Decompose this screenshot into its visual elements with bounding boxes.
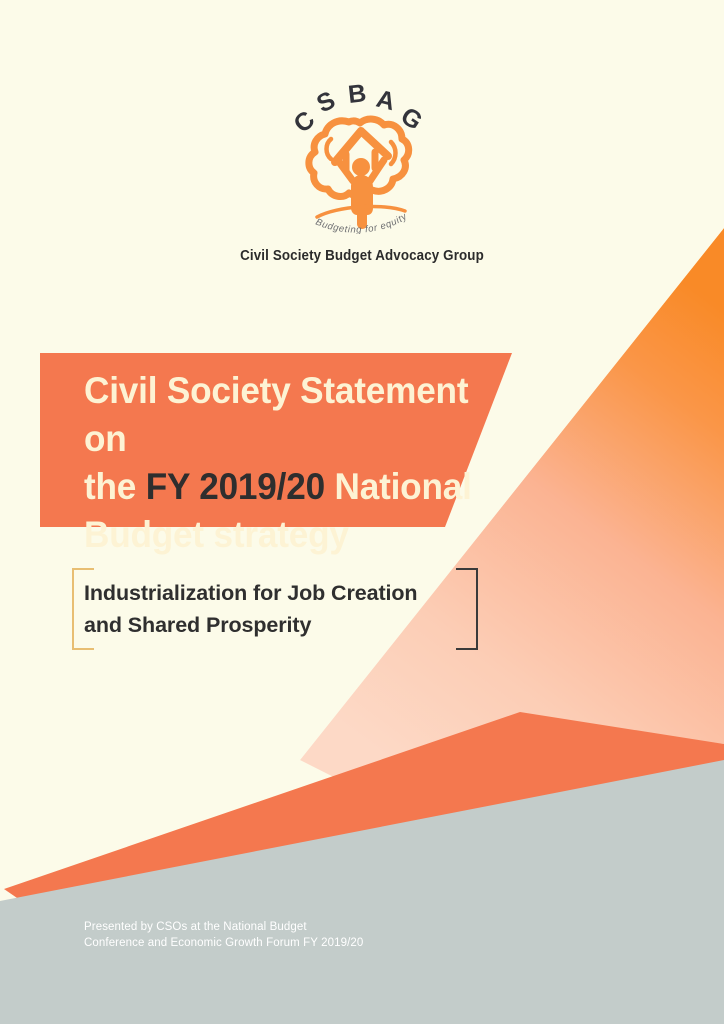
page-subtitle: Industrialization for Job Creation and S… <box>84 577 484 641</box>
title-line-2-suffix: National <box>325 466 472 507</box>
svg-text:A: A <box>374 85 398 117</box>
footer-line-2: Conference and Economic Growth Forum FY … <box>84 936 363 952</box>
title-line-2: the FY 2019/20 National <box>84 463 483 511</box>
logo-block: C S B A G Budgeting for equity Civil Soc… <box>0 84 724 264</box>
title-banner: Civil Society Statement on the FY 2019/2… <box>40 353 512 527</box>
csbag-logo-icon: C S B A G Budgeting for equity <box>287 84 437 234</box>
organization-name: Civil Society Budget Advocacy Group <box>29 248 695 264</box>
subtitle-line-2: and Shared Prosperity <box>84 609 484 641</box>
title-line-3: Budget strategy <box>84 511 483 559</box>
csbag-logo-svg: C S B A G Budgeting for equity <box>287 84 437 234</box>
document-cover-page: C S B A G Budgeting for equity Civil Soc… <box>0 0 724 1024</box>
subtitle-block: Industrialization for Job Creation and S… <box>72 568 478 650</box>
title-line-1: Civil Society Statement on <box>84 367 483 463</box>
title-line-2-prefix: the <box>84 466 146 507</box>
svg-text:B: B <box>347 84 368 109</box>
footer-line-1: Presented by CSOs at the National Budget <box>84 920 363 936</box>
svg-text:C: C <box>288 106 320 139</box>
subtitle-line-1: Industrialization for Job Creation <box>84 577 484 609</box>
title-fiscal-year: FY 2019/20 <box>146 466 325 507</box>
svg-text:S: S <box>312 86 339 118</box>
footer-credit: Presented by CSOs at the National Budget… <box>84 920 363 951</box>
page-title: Civil Society Statement on the FY 2019/2… <box>84 367 483 559</box>
